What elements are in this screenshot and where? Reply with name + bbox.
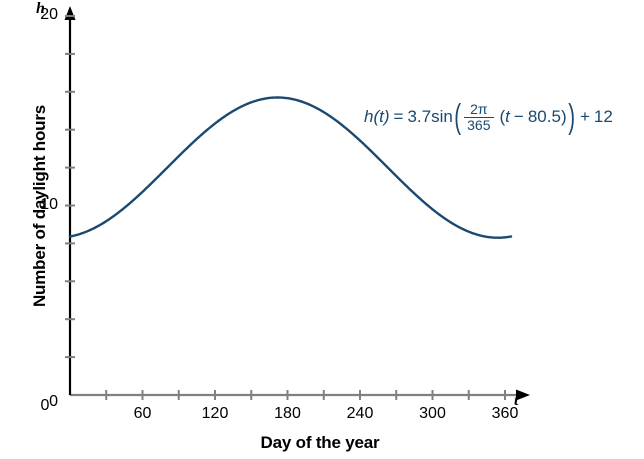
equation-lhs: h(t) <box>364 107 390 127</box>
x-tick-label: 240 <box>335 405 385 423</box>
x-tick-label: 60 <box>118 405 168 423</box>
y-tick-label: 0 <box>18 393 58 411</box>
y-tick-label: 20 <box>18 6 58 24</box>
equation-offset: 12 <box>594 107 613 127</box>
equation-phase: 80.5 <box>528 107 561 127</box>
equation-plus: + <box>580 107 590 127</box>
equation-close-paren: ) <box>568 100 575 134</box>
x-tick-label: 120 <box>190 405 240 423</box>
equation-function: sin <box>431 107 453 127</box>
equation-denominator: 365 <box>464 117 493 133</box>
x-tick-label: 300 <box>408 405 458 423</box>
y-axis-arrow-icon <box>65 6 76 20</box>
equation-fraction: 2π 365 <box>464 102 493 132</box>
equation-numerator: 2π <box>467 102 490 117</box>
equation-open-paren: ( <box>454 100 461 134</box>
chart-figure: Number of daylight hours Day of the year… <box>0 0 644 459</box>
plot-area <box>0 0 644 459</box>
x-tick-label: 180 <box>263 405 313 423</box>
equation-inner-variable: t <box>505 107 510 127</box>
equation-equals: = <box>394 107 404 127</box>
equation-inner-close-paren: ) <box>561 107 567 127</box>
equation-amplitude: 3.7 <box>407 107 431 127</box>
x-tick-label: 360 <box>480 405 530 423</box>
x-axis-arrow-icon <box>516 390 530 401</box>
axes-group <box>65 6 531 401</box>
equation-minus: − <box>514 107 524 127</box>
y-tick-label: 10 <box>18 196 58 214</box>
equation-annotation: h(t) = 3.7 sin ( 2π 365 ( t − 80.5 ) ) +… <box>364 100 613 134</box>
